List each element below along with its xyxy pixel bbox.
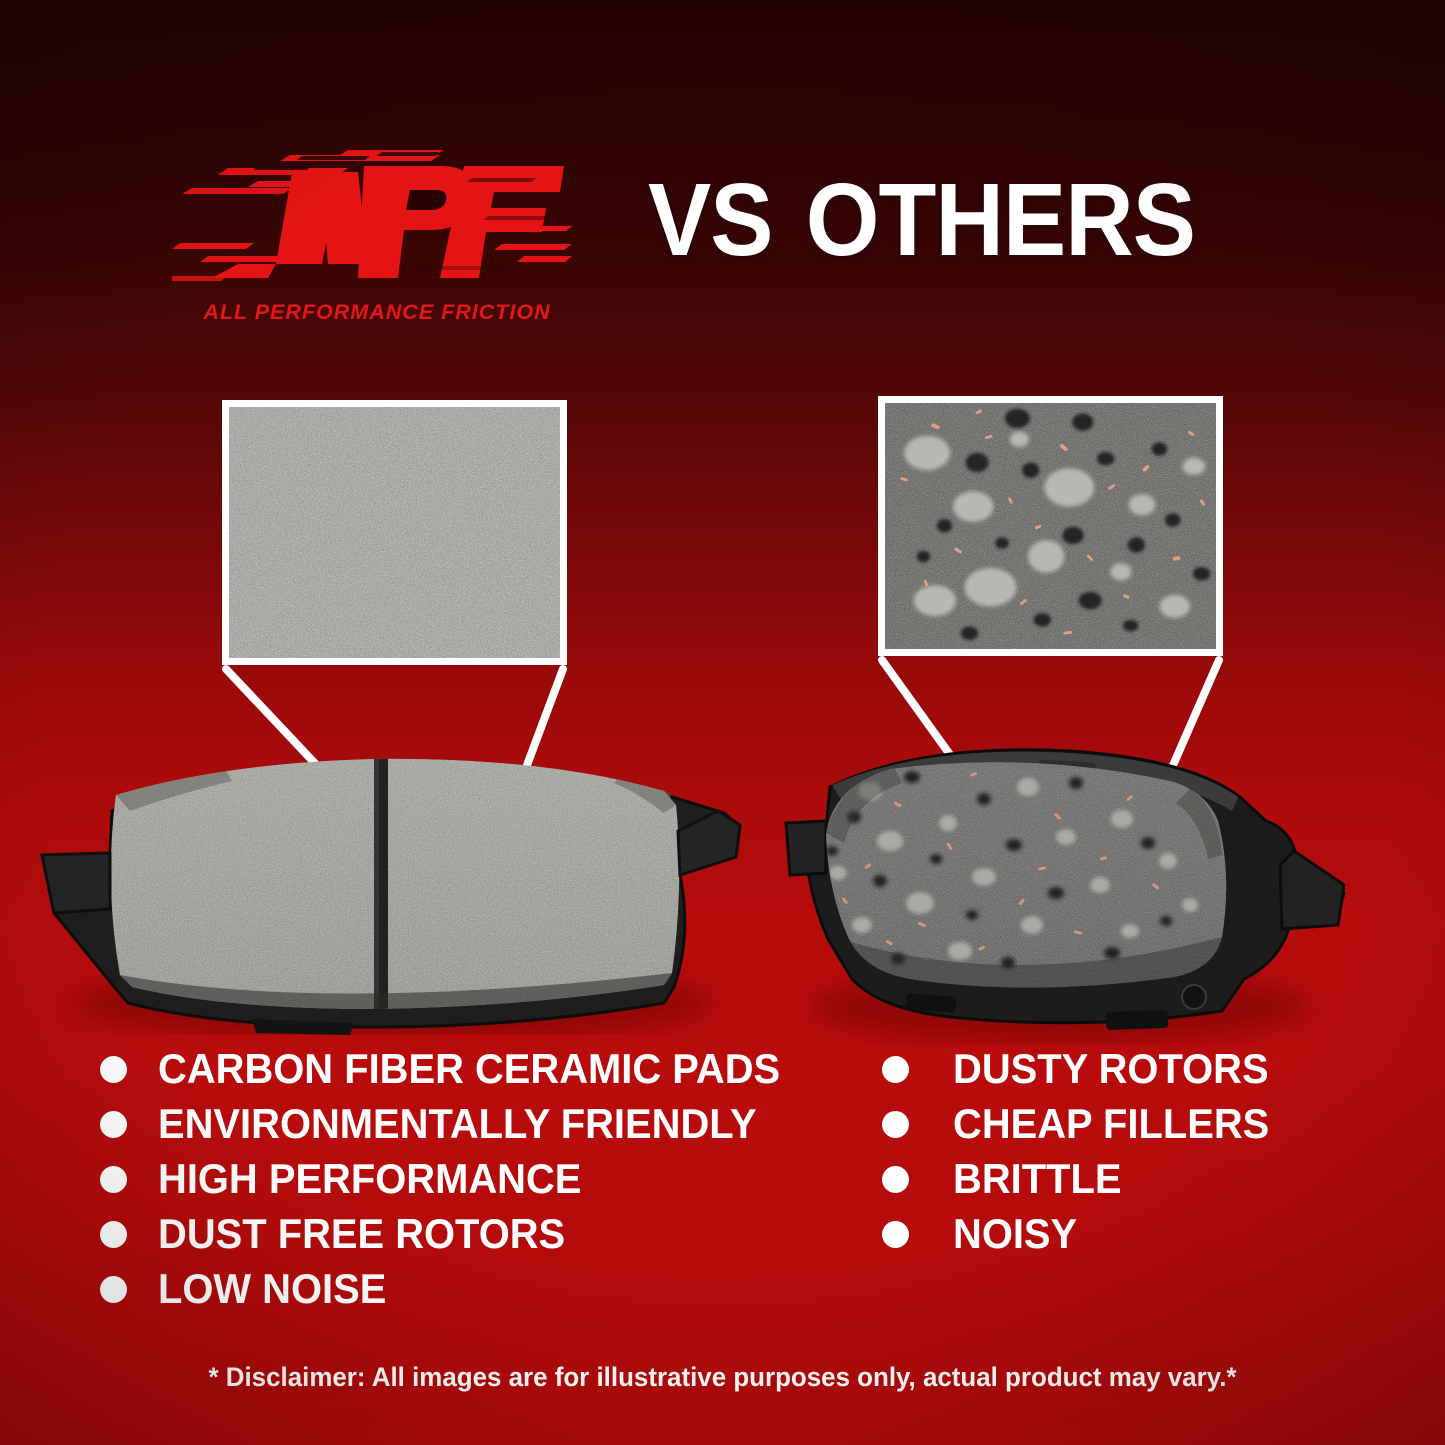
list-item: LOW NOISE [100, 1268, 820, 1310]
feature-label: CHEAP FILLERS [953, 1103, 1269, 1145]
feature-label: LOW NOISE [158, 1268, 386, 1310]
list-item: DUSTY ROTORS [882, 1048, 1402, 1090]
disclaimer-text: * Disclaimer: All images are for illustr… [29, 1362, 1416, 1393]
bullet-icon [100, 1276, 127, 1303]
feature-label: DUST FREE ROTORS [158, 1213, 565, 1255]
feature-label: DUSTY ROTORS [953, 1048, 1269, 1090]
list-item: CARBON FIBER CERAMIC PADS [100, 1048, 820, 1090]
bullet-icon [100, 1166, 127, 1193]
bullet-icon [882, 1166, 909, 1193]
bullet-icon [100, 1111, 127, 1138]
list-item: ENVIRONMENTALLY FRIENDLY [100, 1103, 820, 1145]
feature-label: ENVIRONMENTALLY FRIENDLY [158, 1103, 757, 1145]
feature-label: BRITTLE [953, 1158, 1121, 1200]
bullet-icon [100, 1056, 127, 1083]
feature-label: HIGH PERFORMANCE [158, 1158, 581, 1200]
bullet-icon [882, 1111, 909, 1138]
list-item: NOISY [882, 1213, 1402, 1255]
list-item: DUST FREE ROTORS [100, 1213, 820, 1255]
bullet-icon [100, 1221, 127, 1248]
list-item: HIGH PERFORMANCE [100, 1158, 820, 1200]
list-item: CHEAP FILLERS [882, 1103, 1402, 1145]
list-item: BRITTLE [882, 1158, 1402, 1200]
feature-label: CARBON FIBER CERAMIC PADS [158, 1048, 780, 1090]
competitor-brake-pad [770, 725, 1350, 1045]
others-feature-list: DUSTY ROTORS CHEAP FILLERS BRITTLE NOISY [882, 1048, 1402, 1268]
comparison-infographic: ALL PERFORMANCE FRICTION VSOTHERS [0, 0, 1445, 1445]
bullet-icon [882, 1221, 909, 1248]
feature-label: NOISY [953, 1213, 1077, 1255]
apf-feature-list: CARBON FIBER CERAMIC PADS ENVIRONMENTALL… [100, 1048, 820, 1323]
bullet-icon [882, 1056, 909, 1083]
